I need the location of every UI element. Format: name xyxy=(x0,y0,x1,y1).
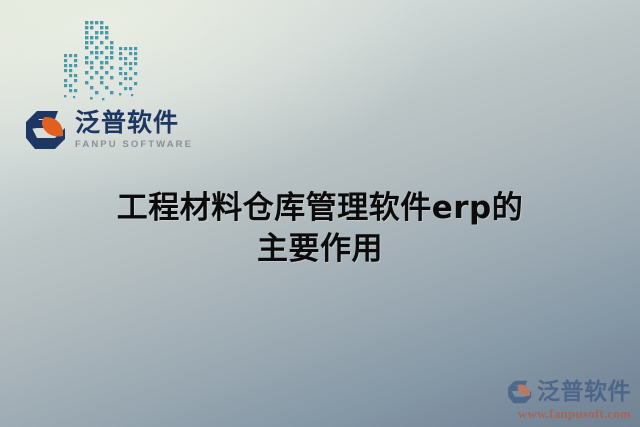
brand-name-cn: 泛普软件 xyxy=(75,110,193,135)
pixel-skyline-graphic xyxy=(56,14,148,106)
watermark: 泛普软件 www.fanpusoft.com xyxy=(507,379,631,420)
page-title-line-2: 主要作用 xyxy=(50,229,590,270)
brand-logo: 泛普软件 FANPU SOFTWARE xyxy=(24,108,193,152)
brand-name-en: FANPU SOFTWARE xyxy=(75,140,193,150)
page-title: 工程材料仓库管理软件erp的 主要作用 xyxy=(50,188,590,270)
fanpu-logo-icon xyxy=(24,108,68,152)
poster-canvas: 泛普软件 FANPU SOFTWARE 工程材料仓库管理软件erp的 主要作用 … xyxy=(0,0,640,427)
watermark-logo-icon xyxy=(507,379,533,405)
watermark-brand-name: 泛普软件 xyxy=(537,381,631,404)
skyline-icon xyxy=(56,14,148,106)
page-title-line-1: 工程材料仓库管理软件erp的 xyxy=(50,188,590,229)
watermark-logo-row: 泛普软件 xyxy=(507,379,631,405)
brand-wordmark: 泛普软件 FANPU SOFTWARE xyxy=(75,110,193,150)
watermark-url: www.fanpusoft.com xyxy=(507,407,631,420)
